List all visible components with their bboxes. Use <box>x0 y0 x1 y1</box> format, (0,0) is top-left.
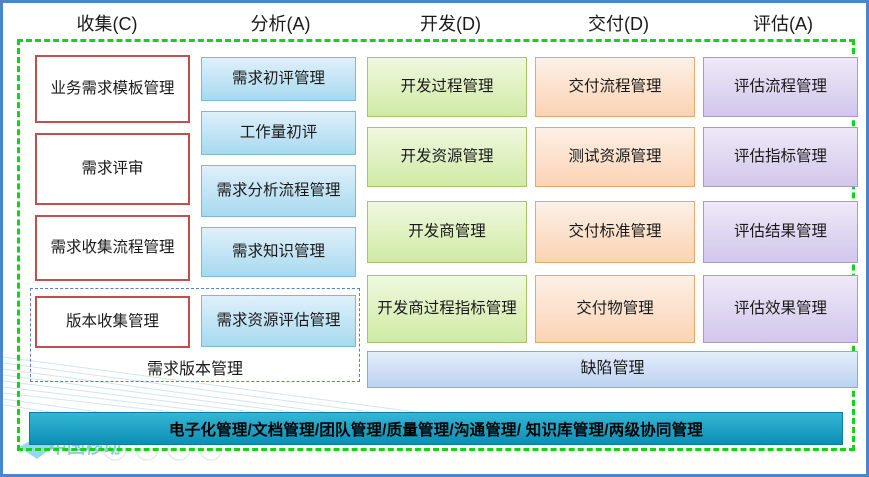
card-evaluation-2[interactable]: 评估结果管理 <box>703 201 858 263</box>
card-label: 需求分析流程管理 <box>216 182 340 200</box>
card-analysis-2[interactable]: 需求分析流程管理 <box>201 165 356 217</box>
card-analysis-4[interactable]: 需求资源评估管理 <box>201 295 356 347</box>
card-label: 版本收集管理 <box>66 313 159 331</box>
card-development-3[interactable]: 开发商过程指标管理 <box>367 275 527 343</box>
card-delivery-3[interactable]: 交付物管理 <box>535 275 695 343</box>
card-label: 评估指标管理 <box>734 148 827 166</box>
card-delivery-0[interactable]: 交付流程管理 <box>535 57 695 117</box>
card-development-1[interactable]: 开发资源管理 <box>367 127 527 187</box>
card-development-2[interactable]: 开发商管理 <box>367 201 527 263</box>
card-label: 业务需求模板管理 <box>50 80 174 98</box>
card-label: 需求资源评估管理 <box>216 312 340 330</box>
card-label: 评估流程管理 <box>734 78 827 96</box>
card-defect-management[interactable]: 缺陷管理 <box>367 351 858 388</box>
requirement-version-group-label: 需求版本管理 <box>30 355 360 379</box>
card-label: 评估结果管理 <box>734 223 827 241</box>
card-evaluation-1[interactable]: 评估指标管理 <box>703 127 858 187</box>
card-label: 需求知识管理 <box>232 243 325 261</box>
card-label: 开发商过程指标管理 <box>377 300 517 318</box>
card-delivery-2[interactable]: 交付标准管理 <box>535 201 695 263</box>
card-label: 工作量初评 <box>240 124 318 142</box>
column-header-development: 开发(D) <box>363 11 538 37</box>
card-collect-1[interactable]: 需求评审 <box>35 133 190 205</box>
card-analysis-1[interactable]: 工作量初评 <box>201 111 356 155</box>
card-label: 开发过程管理 <box>400 78 493 96</box>
card-evaluation-0[interactable]: 评估流程管理 <box>703 57 858 117</box>
column-header-collect: 收集(C) <box>17 11 197 37</box>
card-collect-3[interactable]: 版本收集管理 <box>35 296 190 348</box>
column-header-analysis: 分析(A) <box>193 11 368 37</box>
card-label: 需求收集流程管理 <box>50 239 174 257</box>
card-label: 测试资源管理 <box>568 148 661 166</box>
card-collect-0[interactable]: 业务需求模板管理 <box>35 55 190 123</box>
card-label: 评估效果管理 <box>734 300 827 318</box>
card-label: 开发资源管理 <box>400 148 493 166</box>
card-collect-2[interactable]: 需求收集流程管理 <box>35 215 190 281</box>
column-header-evaluation: 评估(A) <box>698 11 868 37</box>
card-label: 开发商管理 <box>408 223 486 241</box>
card-analysis-3[interactable]: 需求知识管理 <box>201 227 356 277</box>
card-evaluation-3[interactable]: 评估效果管理 <box>703 275 858 343</box>
card-label: 交付物管理 <box>576 300 654 318</box>
card-development-0[interactable]: 开发过程管理 <box>367 57 527 117</box>
card-label: 交付标准管理 <box>568 223 661 241</box>
card-label: 交付流程管理 <box>568 78 661 96</box>
slide-canvas: 中国移动 ••• 7 收集(C) 分析(A) 开发(D) 交付(D) 评估(A)… <box>0 0 869 477</box>
card-delivery-1[interactable]: 测试资源管理 <box>535 127 695 187</box>
foundation-banner: 电子化管理/文档管理/团队管理/质量管理/沟通管理/ 知识库管理/两级协同管理 <box>29 412 843 445</box>
card-label: 需求初评管理 <box>232 70 325 88</box>
column-header-delivery: 交付(D) <box>531 11 706 37</box>
card-label: 需求评审 <box>81 160 143 178</box>
card-label: 缺陷管理 <box>580 360 644 379</box>
foundation-banner-label: 电子化管理/文档管理/团队管理/质量管理/沟通管理/ 知识库管理/两级协同管理 <box>169 418 703 440</box>
card-analysis-0[interactable]: 需求初评管理 <box>201 57 356 101</box>
